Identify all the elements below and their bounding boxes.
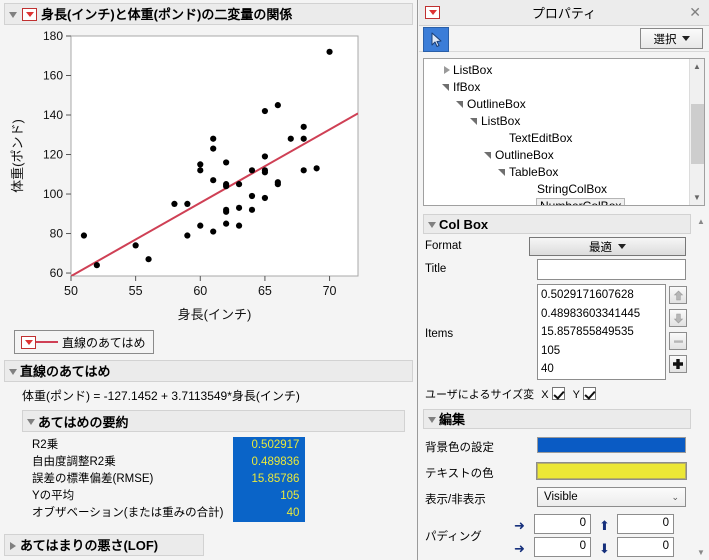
- data-point[interactable]: [275, 181, 281, 187]
- data-point[interactable]: [81, 232, 87, 238]
- y-tick-label: 120: [43, 148, 63, 162]
- chevron-down-icon: [682, 36, 690, 41]
- x-tick-label: 60: [193, 284, 207, 298]
- data-point[interactable]: [171, 201, 177, 207]
- page-title: 身長(インチ)と体重(ポンド)の二変量の関係: [41, 8, 292, 21]
- tree-node-listbox[interactable]: ListBox: [424, 61, 689, 78]
- user-resizable-x-checkbox[interactable]: [552, 387, 565, 400]
- summary-row-label: R2乗: [32, 437, 233, 454]
- legend-red-triangle-icon[interactable]: [21, 336, 36, 349]
- add-item-button[interactable]: [669, 355, 687, 373]
- tree-node-ifbox[interactable]: IfBox: [424, 78, 689, 95]
- items-list[interactable]: 0.50291716076280.4898360334144515.857855…: [537, 284, 666, 380]
- chevron-down-icon[interactable]: [25, 415, 38, 428]
- tree-node-listbox[interactable]: ListBox: [424, 112, 689, 129]
- data-point[interactable]: [197, 161, 203, 167]
- padding-label: パディング: [425, 528, 482, 544]
- arrow-left-icon: ➜: [514, 519, 525, 532]
- lof-outline-header[interactable]: あてはまりの悪さ(LOF): [4, 534, 204, 556]
- title-label: Title: [425, 263, 446, 275]
- summary-row-value: 15.85786: [233, 471, 305, 488]
- tree-node-label: TextEditBox: [509, 131, 572, 145]
- tree-spacer: [524, 199, 537, 206]
- chevron-down-icon[interactable]: [468, 114, 481, 127]
- chart-outline-header[interactable]: 身長(インチ)と体重(ポンド)の二変量の関係: [4, 3, 413, 25]
- summary-table: R2乗0.502917自由度調整R2乗0.489836誤差の標準偏差(RMSE)…: [32, 437, 305, 522]
- data-point[interactable]: [262, 108, 268, 114]
- tree-scrollbar[interactable]: ▲ ▼: [689, 59, 704, 205]
- data-point[interactable]: [133, 242, 139, 248]
- data-point[interactable]: [197, 167, 203, 173]
- arrow-down-icon: ⬇: [599, 542, 610, 555]
- tree-node-label: TableBox: [509, 165, 558, 179]
- chevron-down-icon[interactable]: [454, 97, 467, 110]
- edit-section-title: 編集: [439, 413, 465, 426]
- chevron-down-icon[interactable]: [482, 148, 495, 161]
- arrow-select-tool-button[interactable]: [423, 27, 449, 52]
- user-resizable-y-label: Y: [573, 389, 580, 401]
- data-point[interactable]: [197, 223, 203, 229]
- plot-svg: 60801001201401601805055606570身長(インチ)体重(ポ…: [0, 26, 418, 326]
- scatter-plot[interactable]: 60801001201401601805055606570身長(インチ)体重(ポ…: [0, 26, 418, 326]
- arrow-right-icon: ➜: [514, 542, 525, 555]
- padding-bottom-input[interactable]: 0: [617, 537, 674, 557]
- data-point[interactable]: [288, 136, 294, 142]
- data-point[interactable]: [262, 153, 268, 159]
- data-point[interactable]: [326, 49, 332, 55]
- chevron-down-icon[interactable]: [496, 165, 509, 178]
- chevron-down-icon: [618, 244, 626, 249]
- tree-node-label: StringColBox: [537, 182, 607, 196]
- data-point[interactable]: [223, 159, 229, 165]
- tree-spacer: [496, 131, 509, 144]
- summary-row-value: 40: [233, 505, 305, 522]
- data-point[interactable]: [223, 181, 229, 187]
- remove-item-button[interactable]: [669, 332, 687, 350]
- move-item-down-button[interactable]: [669, 309, 687, 327]
- data-point[interactable]: [236, 181, 242, 187]
- data-point[interactable]: [249, 193, 255, 199]
- fit-section-title: 直線のあてはめ: [20, 365, 110, 378]
- scroll-up-icon[interactable]: ▲: [690, 59, 704, 74]
- user-resizable-y-checkbox[interactable]: [583, 387, 596, 400]
- colbox-section-header[interactable]: Col Box: [423, 214, 691, 234]
- chevron-down-icon: ⌄: [671, 492, 679, 503]
- summary-row-value: 105: [233, 488, 305, 505]
- user-resizable-x-label: X: [541, 389, 548, 401]
- tree-node-label: NumberColBox: [536, 198, 625, 207]
- list-item[interactable]: 15.857855849535: [541, 323, 662, 342]
- close-icon[interactable]: ✕: [689, 5, 701, 19]
- x-tick-label: 65: [258, 284, 272, 298]
- chevron-down-icon[interactable]: [426, 218, 439, 231]
- text-color-label: テキストの色: [425, 465, 494, 481]
- list-item[interactable]: 0.48983603341445: [541, 305, 662, 324]
- data-point[interactable]: [249, 167, 255, 173]
- data-point[interactable]: [223, 221, 229, 227]
- arrow-up-icon: ⬆: [599, 519, 610, 532]
- data-point[interactable]: [184, 232, 190, 238]
- visibility-label: 表示/非表示: [425, 491, 486, 507]
- tree-node-stringcolbox[interactable]: StringColBox: [424, 180, 689, 197]
- y-tick-label: 100: [43, 187, 63, 201]
- red-triangle-menu-icon[interactable]: [22, 8, 37, 21]
- minus-icon: [673, 336, 684, 347]
- data-point[interactable]: [275, 102, 281, 108]
- scrollbar-thumb[interactable]: [691, 104, 704, 164]
- chevron-down-icon[interactable]: [7, 8, 20, 21]
- properties-title: プロパティ: [419, 3, 709, 22]
- format-value: 最適: [589, 239, 612, 255]
- arrow-up-icon: [673, 290, 684, 301]
- summary-row-value: 0.489836: [233, 454, 305, 471]
- edit-section-header[interactable]: 編集: [423, 409, 691, 429]
- tree-spacer: [524, 182, 537, 195]
- data-point[interactable]: [249, 207, 255, 213]
- arrow-down-icon: [673, 313, 684, 324]
- data-point[interactable]: [262, 169, 268, 175]
- properties-titlebar: プロパティ ✕: [419, 0, 709, 26]
- x-tick-label: 50: [64, 284, 78, 298]
- tree-node-numbercolbox[interactable]: NumberColBox: [424, 197, 689, 206]
- table-row: Yの平均105: [32, 488, 305, 505]
- summary-row-label: Yの平均: [32, 488, 233, 505]
- visibility-select[interactable]: Visible ⌄: [537, 487, 686, 507]
- fit-equation: 体重(ポンド) = -127.1452 + 3.7113549*身長(インチ): [22, 387, 413, 404]
- data-point[interactable]: [223, 209, 229, 215]
- fit-section: 直線のあてはめ 体重(ポンド) = -127.1452 + 3.7113549*…: [4, 360, 413, 522]
- lof-title: あてはまりの悪さ(LOF): [20, 539, 158, 552]
- table-row: R2乗0.502917: [32, 437, 305, 454]
- scroll-down-icon[interactable]: ▼: [694, 545, 708, 560]
- chevron-down-icon[interactable]: [426, 413, 439, 426]
- visibility-value: Visible: [544, 491, 578, 503]
- list-item[interactable]: 40: [541, 360, 662, 379]
- tree-node-label: ListBox: [453, 63, 492, 77]
- y-tick-label: 80: [50, 227, 64, 241]
- tree-node-label: IfBox: [453, 80, 480, 94]
- y-tick-label: 140: [43, 108, 63, 122]
- list-item[interactable]: 105: [541, 342, 662, 361]
- data-point[interactable]: [301, 136, 307, 142]
- table-row: 自由度調整R2乗0.489836: [32, 454, 305, 471]
- y-axis-label: 体重(ポンド): [10, 119, 25, 193]
- chevron-right-icon[interactable]: [440, 63, 453, 76]
- data-point[interactable]: [184, 201, 190, 207]
- x-axis-label: 身長(インチ): [178, 307, 252, 322]
- format-dropdown[interactable]: 最適: [529, 237, 686, 256]
- data-point[interactable]: [262, 195, 268, 201]
- list-item[interactable]: 0.5029171607628: [541, 286, 662, 305]
- tree-node-tablebox[interactable]: TableBox: [424, 163, 689, 180]
- user-resizable-label: ユーザによるサイズ変: [425, 389, 534, 401]
- y-tick-label: 180: [43, 29, 63, 43]
- tree-node-label: OutlineBox: [467, 97, 526, 111]
- background-color-label: 背景色の設定: [425, 439, 494, 455]
- data-point[interactable]: [301, 124, 307, 130]
- chevron-down-icon[interactable]: [440, 80, 453, 93]
- data-point[interactable]: [210, 136, 216, 142]
- table-row: オブザベーション(または重みの合計)40: [32, 505, 305, 522]
- summary-row-label: 自由度調整R2乗: [32, 454, 233, 471]
- padding-top-input[interactable]: 0: [617, 514, 674, 534]
- padding-left-input[interactable]: 0: [534, 514, 591, 534]
- data-point[interactable]: [236, 205, 242, 211]
- x-tick-label: 55: [129, 284, 143, 298]
- data-point[interactable]: [210, 177, 216, 183]
- legend-line-swatch: [36, 341, 58, 343]
- select-button-label: 選択: [654, 31, 677, 47]
- text-color-swatch[interactable]: [537, 463, 686, 479]
- y-tick-label: 160: [43, 69, 63, 83]
- tree-node-outlinebox[interactable]: OutlineBox: [424, 146, 689, 163]
- scroll-down-icon[interactable]: ▼: [690, 190, 704, 205]
- data-point[interactable]: [210, 145, 216, 151]
- plot-frame: [71, 36, 358, 276]
- scroll-up-icon[interactable]: ▲: [694, 214, 708, 229]
- chevron-down-icon[interactable]: [7, 365, 20, 378]
- tree-node-label: OutlineBox: [495, 148, 554, 162]
- x-tick-label: 70: [323, 284, 337, 298]
- report-pane: 身長(インチ)と体重(ポンド)の二変量の関係 60801001201401601…: [0, 0, 418, 560]
- summary-title: あてはめの要約: [38, 412, 128, 431]
- colbox-section-title: Col Box: [439, 218, 488, 231]
- legend[interactable]: 直線のあてはめ: [14, 330, 154, 354]
- summary-row-label: 誤差の標準偏差(RMSE): [32, 471, 233, 488]
- title-input[interactable]: [537, 259, 686, 280]
- legend-label: 直線のあてはめ: [62, 334, 146, 351]
- table-row: 誤差の標準偏差(RMSE)15.85786: [32, 471, 305, 488]
- chevron-right-icon[interactable]: [7, 539, 20, 552]
- select-button[interactable]: 選択: [640, 28, 703, 49]
- data-point[interactable]: [145, 256, 151, 262]
- summary-row-label: オブザベーション(または重みの合計): [32, 505, 233, 522]
- plus-icon: [672, 358, 684, 370]
- tree-node-outlinebox[interactable]: OutlineBox: [424, 95, 689, 112]
- fit-outline-header[interactable]: 直線のあてはめ: [4, 360, 413, 382]
- user-resizable-row: ユーザによるサイズ変 X Y: [425, 386, 705, 404]
- cursor-arrow-icon: [429, 32, 443, 48]
- data-point[interactable]: [301, 167, 307, 173]
- move-item-up-button[interactable]: [669, 286, 687, 304]
- items-label: Items: [425, 328, 453, 340]
- background-color-swatch[interactable]: [537, 437, 686, 453]
- tree-node-label: ListBox: [481, 114, 520, 128]
- tree-node-texteditbox[interactable]: TextEditBox: [424, 129, 689, 146]
- data-point[interactable]: [210, 228, 216, 234]
- data-point[interactable]: [236, 223, 242, 229]
- y-tick-label: 60: [50, 266, 64, 280]
- summary-outline-header[interactable]: あてはめの要約: [22, 410, 405, 432]
- element-tree[interactable]: ListBoxIfBoxOutlineBoxListBoxTextEditBox…: [423, 58, 705, 206]
- summary-row-value: 0.502917: [233, 437, 305, 454]
- properties-pane: プロパティ ✕ 選択 ListBoxIfBoxOutlineBoxListBox…: [419, 0, 709, 560]
- properties-toolbar: 選択: [419, 26, 709, 52]
- padding-right-input[interactable]: 0: [534, 537, 591, 557]
- format-label: Format: [425, 240, 461, 252]
- data-point[interactable]: [314, 165, 320, 171]
- data-point[interactable]: [94, 262, 100, 268]
